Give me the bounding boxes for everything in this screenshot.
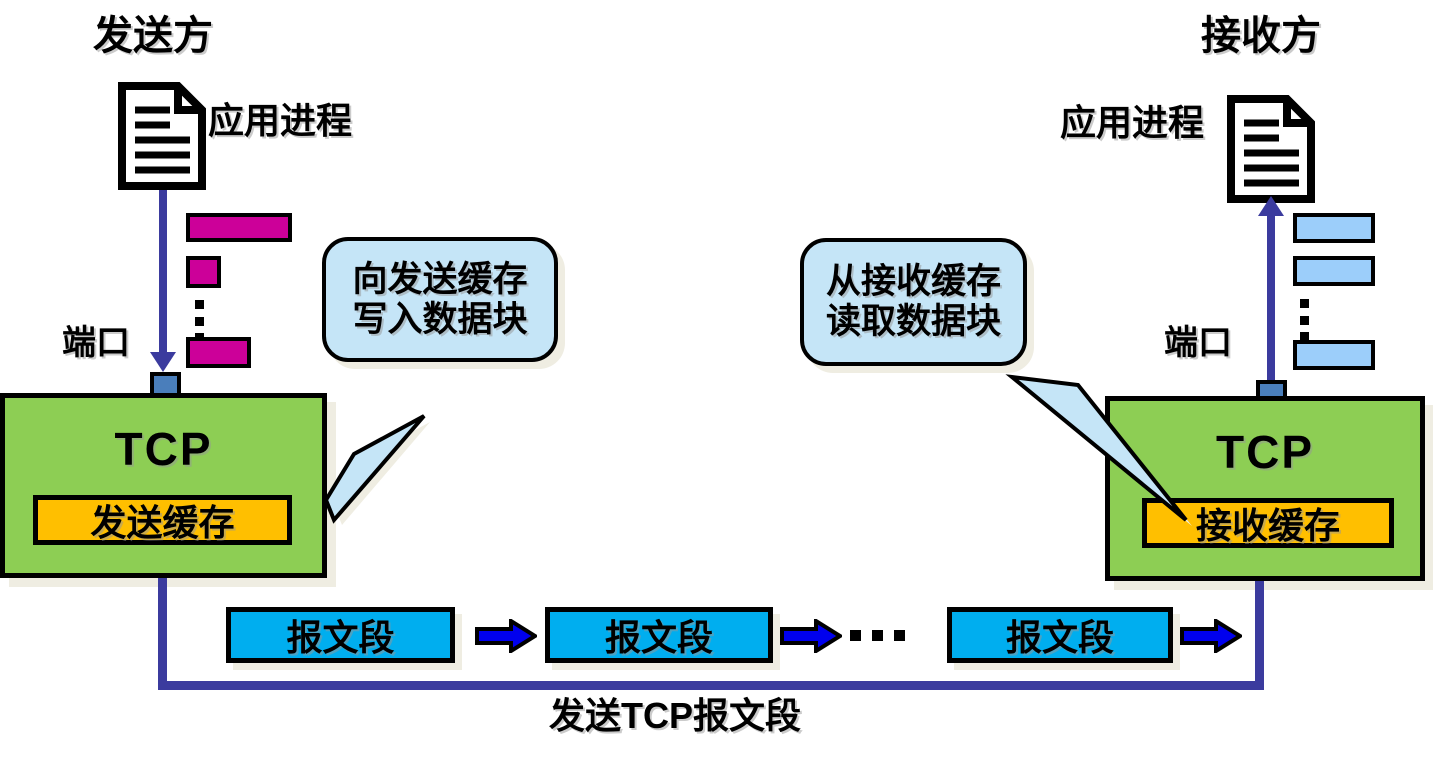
arrow-up-icon-right xyxy=(1258,196,1284,216)
port-label-left: 端口 xyxy=(62,326,130,360)
data-block-blue-1 xyxy=(1293,213,1375,243)
horizontal-ellipsis-icon xyxy=(850,630,905,641)
data-block-magenta-3 xyxy=(186,337,251,368)
vertical-ellipsis-icon-right xyxy=(1300,299,1309,341)
callout-left: 向发送缓存 写入数据块 xyxy=(322,237,558,362)
data-block-magenta-1 xyxy=(186,213,292,242)
callout-tail-left xyxy=(250,380,570,540)
sender-title: 发送方 xyxy=(93,16,213,56)
receiver-title: 接收方 xyxy=(1201,16,1321,56)
bottom-caption: 发送TCP报文段 xyxy=(549,698,801,734)
tcp-data-flow-diagram: 发送方 应用进程 端口 TCP 发送缓存 xyxy=(0,0,1433,772)
segment-box-1: 报文段 xyxy=(226,607,455,663)
arrow-right-icon-1 xyxy=(475,619,537,653)
callout-right: 从接收缓存 读取数据块 xyxy=(800,238,1027,366)
segment-box-3: 报文段 xyxy=(947,607,1173,663)
callout-left-line1: 向发送缓存 xyxy=(352,260,527,300)
arrow-right-icon-3 xyxy=(1180,619,1242,653)
callout-right-line1: 从接收缓存 xyxy=(826,262,1001,302)
data-block-blue-2 xyxy=(1293,256,1375,286)
callout-left-line2: 写入数据块 xyxy=(352,300,527,340)
callout-tail-right xyxy=(1000,360,1230,540)
vertical-ellipsis-icon-left xyxy=(195,300,204,342)
data-block-magenta-2 xyxy=(186,256,221,288)
arrow-down-shaft-left xyxy=(159,190,167,352)
data-block-blue-3 xyxy=(1293,340,1375,370)
app-process-label-right: 应用进程 xyxy=(1060,105,1204,141)
port-label-right: 端口 xyxy=(1164,326,1232,360)
segment-box-2: 报文段 xyxy=(545,607,773,663)
connector-horizontal xyxy=(158,681,1264,690)
connector-right-vertical xyxy=(1255,581,1264,689)
app-process-label-left: 应用进程 xyxy=(208,103,352,139)
arrow-right-icon-2 xyxy=(780,619,842,653)
arrow-down-icon-left xyxy=(150,352,176,372)
document-page-icon xyxy=(118,82,206,190)
document-page-icon-right xyxy=(1227,95,1315,203)
arrow-up-shaft-right xyxy=(1267,214,1275,380)
callout-right-line2: 读取数据块 xyxy=(826,302,1001,342)
connector-left-vertical xyxy=(158,578,167,689)
